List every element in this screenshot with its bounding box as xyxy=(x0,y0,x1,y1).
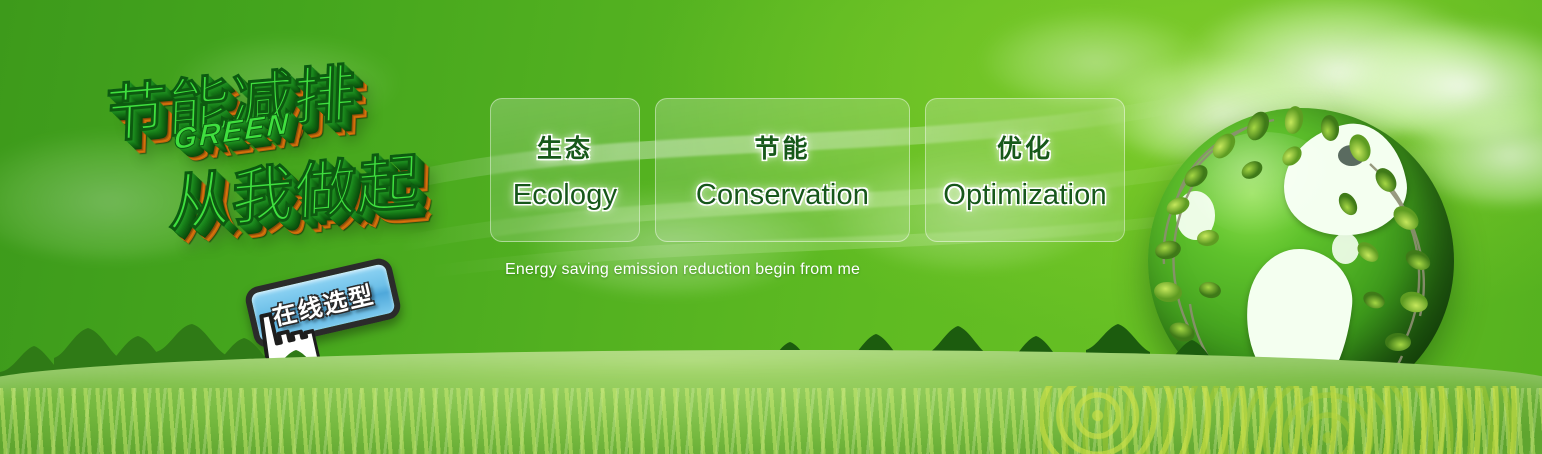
headline-3d-title: 节能减排 GREEN 从我做起 xyxy=(95,26,494,288)
green-energy-banner: 节能减排 GREEN 从我做起 生态 Ecology 节能 Conservati… xyxy=(0,0,1542,454)
fallen-leaf-litter xyxy=(1040,386,1520,454)
feature-card-group: 生态 Ecology 节能 Conservation 优化 Optimizati… xyxy=(490,98,1125,242)
tagline-text: Energy saving emission reduction begin f… xyxy=(505,261,860,279)
grass-meadow xyxy=(0,350,1542,454)
globe-highlight xyxy=(1191,132,1338,236)
card-label-cn: 节能 xyxy=(754,129,810,165)
card-label-en: Optimization xyxy=(943,179,1107,212)
cloud-icon xyxy=(980,10,1210,105)
card-label-en: Conservation xyxy=(696,179,869,212)
card-label-cn: 优化 xyxy=(997,129,1053,165)
card-label-cn: 生态 xyxy=(537,129,593,165)
feature-card-ecology[interactable]: 生态 Ecology xyxy=(490,98,640,242)
card-label-en: Ecology xyxy=(513,179,618,212)
feature-card-conservation[interactable]: 节能 Conservation xyxy=(655,98,910,242)
continent-landmass xyxy=(1332,233,1360,264)
feature-card-optimization[interactable]: 优化 Optimization xyxy=(925,98,1125,242)
